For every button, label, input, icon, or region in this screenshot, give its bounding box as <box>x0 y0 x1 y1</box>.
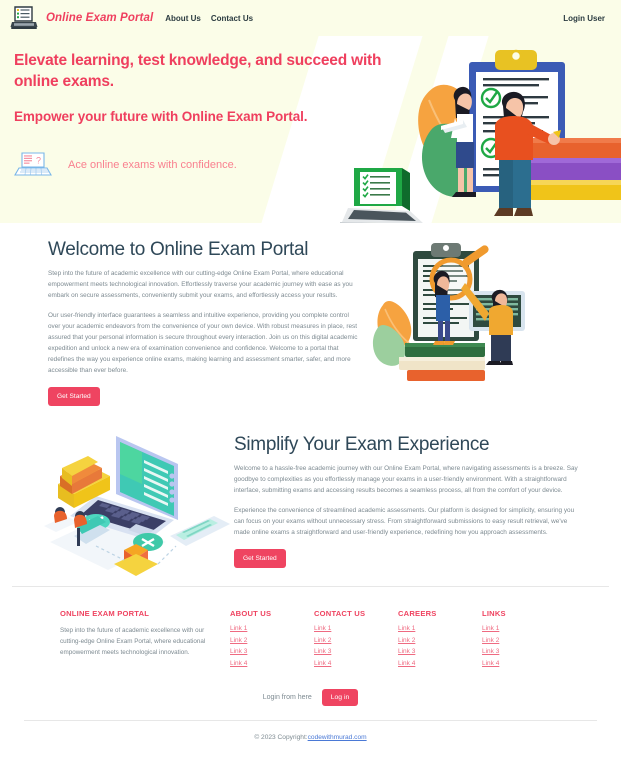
footer-link[interactable]: Link 2 <box>230 637 314 644</box>
welcome-section: Welcome to Online Exam Portal Step into … <box>0 239 621 406</box>
footer: ONLINE EXAM PORTAL Step into the future … <box>0 587 621 741</box>
simplify-paragraph-2: Experience the convenience of streamline… <box>234 505 581 538</box>
svg-text:?: ? <box>36 155 41 165</box>
login-prompt-text: Login from here <box>263 694 312 701</box>
magnifier-books-students-illustration <box>369 243 559 388</box>
copyright-text: © 2023 Copyright: <box>254 734 307 741</box>
welcome-art-column <box>359 239 607 406</box>
footer-login-row: Login from here Log in <box>12 689 609 706</box>
footer-link[interactable]: Link 4 <box>230 660 314 667</box>
nav-login-user[interactable]: Login User <box>563 14 605 23</box>
footer-column-heading: LINKS <box>482 609 566 618</box>
welcome-get-started-button[interactable]: Get Started <box>48 387 100 406</box>
footer-link[interactable]: Link 1 <box>314 625 398 632</box>
brand-name[interactable]: Online Exam Portal <box>46 12 153 24</box>
simplify-art-column <box>14 424 224 568</box>
footer-link[interactable]: Link 2 <box>314 637 398 644</box>
simplify-section: Simplify Your Exam Experience Welcome to… <box>0 424 621 568</box>
footer-brand-description: Step into the future of academic excelle… <box>60 625 212 658</box>
footer-columns: ONLINE EXAM PORTAL Step into the future … <box>12 609 609 671</box>
nav-link-contact-us[interactable]: Contact Us <box>211 14 253 23</box>
simplify-paragraph-1: Welcome to a hassle-free academic journe… <box>234 463 581 496</box>
footer-column-heading: ABOUT US <box>230 609 314 618</box>
footer-link[interactable]: Link 3 <box>482 648 566 655</box>
hero-subheadline: Empower your future with Online Exam Por… <box>14 109 400 124</box>
copyright: © 2023 Copyright:codewithmurad.com <box>12 734 609 741</box>
simplify-get-started-button[interactable]: Get Started <box>234 549 286 568</box>
log-in-button[interactable]: Log in <box>322 689 359 706</box>
footer-column-heading: CONTACT US <box>314 609 398 618</box>
laptop-books-devices-isometric-illustration <box>36 424 232 589</box>
navbar: Online Exam Portal About Us Contact Us L… <box>0 0 621 36</box>
footer-link[interactable]: Link 1 <box>482 625 566 632</box>
hero-text-block: Elevate learning, test knowledge, and su… <box>0 36 400 178</box>
footer-column-about-us: ABOUT US Link 1 Link 2 Link 3 Link 4 <box>230 609 314 671</box>
nav-links: About Us Contact Us <box>165 14 253 23</box>
footer-link[interactable]: Link 2 <box>398 637 482 644</box>
welcome-paragraph-1: Step into the future of academic excelle… <box>48 268 359 301</box>
footer-link[interactable]: Link 4 <box>398 660 482 667</box>
footer-link[interactable]: Link 3 <box>230 648 314 655</box>
simplify-text-column: Simplify Your Exam Experience Welcome to… <box>224 424 607 568</box>
footer-brand-column: ONLINE EXAM PORTAL Step into the future … <box>60 609 230 671</box>
simplify-title: Simplify Your Exam Experience <box>234 434 581 456</box>
copyright-link[interactable]: codewithmurad.com <box>308 734 367 741</box>
footer-column-careers: CAREERS Link 1 Link 2 Link 3 Link 4 <box>398 609 482 671</box>
hero-tagline: Ace online exams with confidence. <box>68 159 237 171</box>
footer-link[interactable]: Link 4 <box>314 660 398 667</box>
footer-column-heading: CAREERS <box>398 609 482 618</box>
students-clipboard-books-illustration <box>407 36 621 223</box>
footer-link[interactable]: Link 1 <box>398 625 482 632</box>
footer-link[interactable]: Link 3 <box>314 648 398 655</box>
laptop-checklist-icon[interactable] <box>10 5 38 31</box>
hero-tagline-row: ? Ace online exams with confidence. <box>14 152 400 178</box>
footer-link[interactable]: Link 4 <box>482 660 566 667</box>
footer-link[interactable]: Link 3 <box>398 648 482 655</box>
hero-section: Elevate learning, test knowledge, and su… <box>0 36 621 223</box>
footer-column-links: LINKS Link 1 Link 2 Link 3 Link 4 <box>482 609 566 671</box>
welcome-title: Welcome to Online Exam Portal <box>48 239 359 261</box>
footer-link[interactable]: Link 2 <box>482 637 566 644</box>
hero-headline: Elevate learning, test knowledge, and su… <box>14 50 406 93</box>
laptop-question-icon: ? <box>14 152 54 178</box>
footer-divider <box>24 720 597 721</box>
nav-right: Login User <box>563 14 609 23</box>
footer-brand-heading: ONLINE EXAM PORTAL <box>60 609 212 618</box>
footer-link[interactable]: Link 1 <box>230 625 314 632</box>
welcome-text-column: Welcome to Online Exam Portal Step into … <box>14 239 359 406</box>
footer-column-contact-us: CONTACT US Link 1 Link 2 Link 3 Link 4 <box>314 609 398 671</box>
welcome-paragraph-2: Our user-friendly interface guarantees a… <box>48 310 359 376</box>
page-root: Online Exam Portal About Us Contact Us L… <box>0 0 621 768</box>
nav-link-about-us[interactable]: About Us <box>165 14 201 23</box>
